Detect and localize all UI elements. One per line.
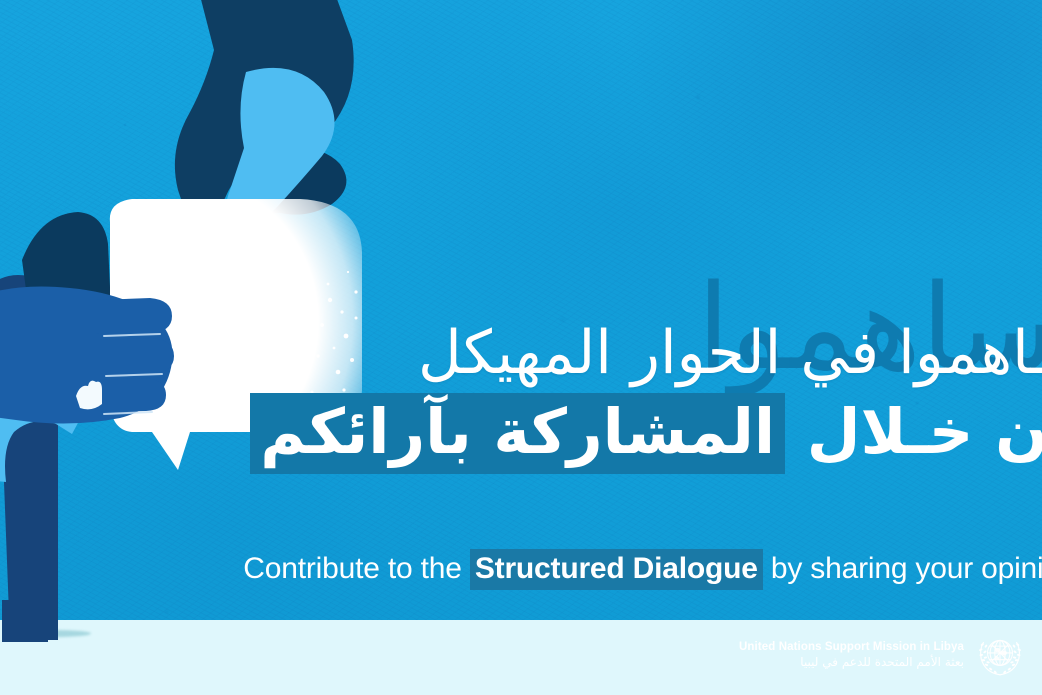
subhead-highlight: Structured Dialogue: [470, 549, 763, 590]
headline-arabic-highlight: المشاركة بآرائكم: [250, 393, 785, 474]
subhead-text-after: by sharing your opinio: [763, 552, 1042, 585]
subhead-english: Contribute to the Structured Dialogue by…: [60, 552, 1042, 586]
logo-arabic-label: بعثة الأمم المتحدة للدعم في ليبيا: [739, 655, 964, 669]
logo-english-label: United Nations Support Mission in Libya: [739, 641, 964, 655]
logo-text-group: United Nations Support Mission in Libya …: [739, 641, 964, 670]
headline-arabic-line1: ـاهموا في الحوار المهيكل: [148, 322, 1042, 384]
poster-canvas: ساهموا ـاهموا في الحوار المهيكل ن خـلال …: [0, 0, 1042, 695]
unsmil-logo: United Nations Support Mission in Libya …: [739, 629, 1026, 681]
headline-arabic-prefix: ن خـلال: [785, 395, 1042, 468]
headline-arabic-line2: ن خـلال المشاركة بآرائكم: [148, 400, 1042, 464]
headline-block: ـاهموا في الحوار المهيكل ن خـلال المشارك…: [148, 322, 1042, 465]
subhead-text-before: Contribute to the: [243, 552, 470, 585]
un-emblem-icon: [974, 629, 1026, 681]
